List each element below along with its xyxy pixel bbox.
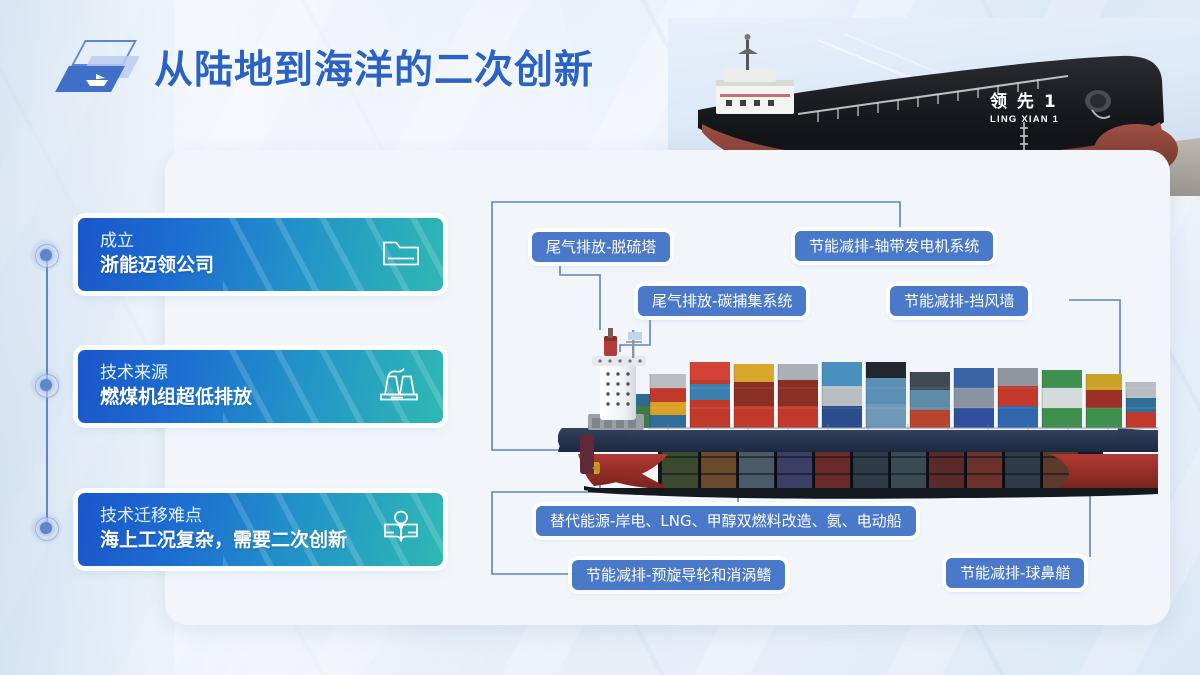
info-card-migration-difficulty[interactable]: 技术迁移难点 海上工况复杂，需要二次创新	[78, 493, 443, 566]
label-wind-shield-wall[interactable]: 节能减排-挡风墙	[890, 286, 1028, 316]
power-plant-icon	[377, 366, 421, 407]
slide-canvas: 领 先 1 LING XIAN 1 从陆地到海洋的二次创新 成立	[0, 0, 1200, 675]
boat-logo-icon	[60, 38, 136, 96]
card-title: 燃煤机组超低排放	[100, 385, 252, 410]
container-ship-illustration	[558, 322, 1158, 502]
info-card-establishment[interactable]: 成立 浙能迈领公司	[78, 218, 443, 291]
timeline-dot-1[interactable]	[29, 238, 63, 272]
timeline-dot-2[interactable]	[29, 368, 63, 402]
label-carbon-capture-system[interactable]: 尾气排放-碳捕集系统	[638, 286, 806, 316]
folder-icon	[381, 236, 421, 273]
timeline-dot-3[interactable]	[29, 511, 63, 545]
page-title: 从陆地到海洋的二次创新	[154, 39, 594, 95]
label-pre-swirl-stator-fin[interactable]: 节能减排-预旋导轮和消涡鳍	[572, 560, 785, 590]
card-kicker: 成立	[100, 231, 214, 252]
book-lightbulb-icon	[381, 508, 421, 551]
info-card-tech-source[interactable]: 技术来源 燃煤机组超低排放	[78, 350, 443, 423]
label-bulbous-bow[interactable]: 节能减排-球鼻艏	[946, 558, 1084, 588]
svg-text:LING XIAN 1: LING XIAN 1	[990, 114, 1059, 125]
card-kicker: 技术来源	[100, 363, 252, 384]
card-title: 浙能迈领公司	[100, 253, 214, 278]
slide-header: 从陆地到海洋的二次创新	[60, 38, 594, 96]
label-alternative-energy[interactable]: 替代能源-岸电、LNG、甲醇双燃料改造、氨、电动船	[536, 506, 916, 536]
label-shaft-generator-system[interactable]: 节能减排-轴带发电机系统	[795, 231, 993, 261]
card-kicker: 技术迁移难点	[100, 506, 347, 527]
card-title: 海上工况复杂，需要二次创新	[100, 528, 347, 553]
label-desulfurization-tower[interactable]: 尾气排放-脱硫塔	[532, 232, 670, 262]
svg-text:领 先 1: 领 先 1	[990, 91, 1058, 112]
